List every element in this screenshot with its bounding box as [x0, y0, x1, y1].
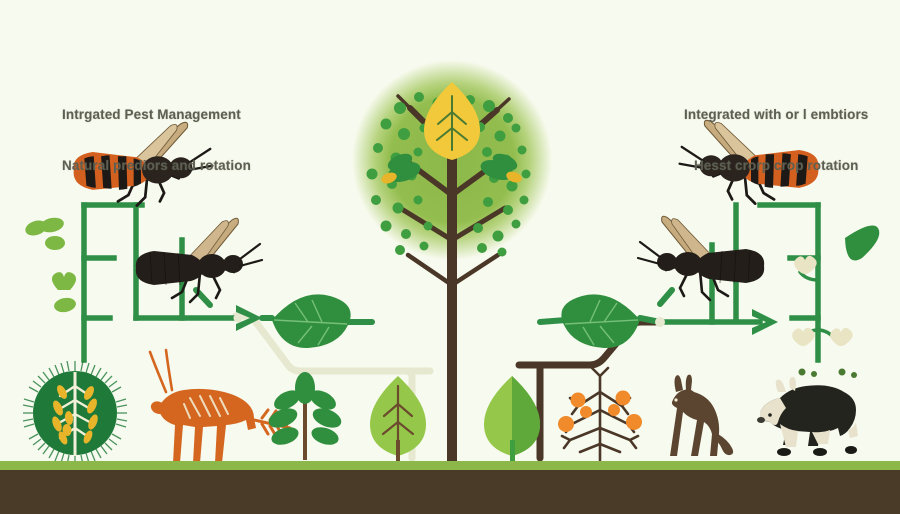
connector-node-left	[234, 314, 243, 323]
tree-trunk	[447, 130, 457, 463]
label-right-line1: Integrated with or l embtiors	[684, 106, 868, 123]
grain-circle-emblem	[23, 361, 127, 465]
connector-node-right	[655, 317, 665, 327]
label-right-line2: Hesst crorp crop rotation	[684, 157, 868, 174]
label-left-line1: Intrgated Pest Management	[62, 106, 251, 123]
label-left: Intrgated Pest Management Natural predio…	[62, 72, 251, 208]
ground-grass	[0, 461, 900, 470]
ground-soil	[0, 470, 900, 514]
infographic-canvas: Intrgated Pest Management Natural predio…	[0, 0, 900, 514]
label-right: Integrated with or l embtiors Hesst cror…	[684, 72, 868, 208]
label-left-line2: Natural prediors and rotation	[62, 157, 251, 174]
